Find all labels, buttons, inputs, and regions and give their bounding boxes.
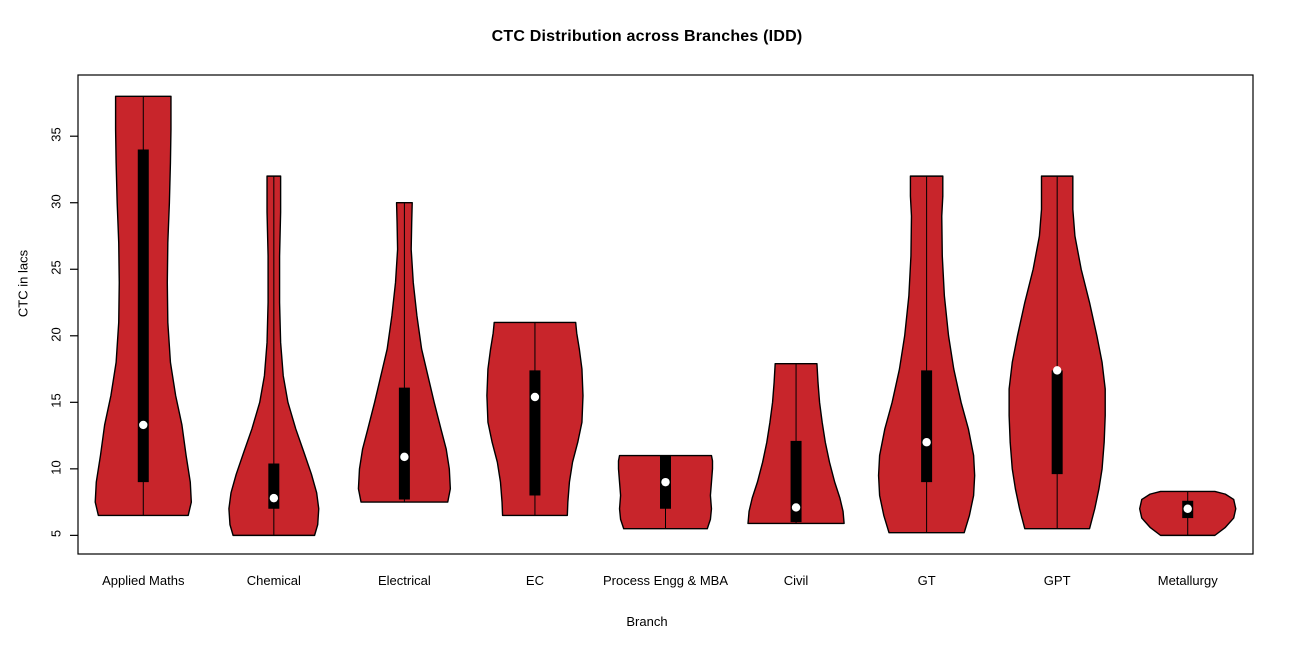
y-tick-label: 25 [49, 253, 64, 283]
y-tick-label: 15 [49, 386, 64, 416]
y-tick-label: 30 [49, 186, 64, 216]
x-tick-label: Process Engg & MBA [603, 573, 728, 588]
median-point [661, 478, 669, 486]
x-tick-label: GPT [1044, 573, 1071, 588]
violin-process-engg-mba [619, 456, 713, 529]
violin-plot-figure: CTC Distribution across Branches (IDD) C… [0, 0, 1294, 653]
x-tick-label: Electrical [378, 573, 431, 588]
x-tick-label: Applied Maths [102, 573, 184, 588]
plot-canvas [0, 0, 1294, 653]
x-tick-label: EC [526, 573, 544, 588]
violin-metallurgy [1140, 491, 1236, 535]
median-point [270, 494, 278, 502]
violin-ec [487, 322, 583, 515]
y-tick-label: 35 [49, 120, 64, 150]
median-point [400, 453, 408, 461]
x-tick-label: Metallurgy [1158, 573, 1218, 588]
x-tick-label: Civil [784, 573, 809, 588]
violin-gt [879, 176, 975, 533]
x-tick-label: Chemical [247, 573, 301, 588]
violin-gpt [1009, 176, 1105, 529]
median-point [792, 503, 800, 511]
median-point [1184, 505, 1192, 513]
x-tick-label: GT [918, 573, 936, 588]
y-tick-label: 20 [49, 319, 64, 349]
violin-civil [748, 364, 844, 524]
violin-chemical [229, 176, 319, 535]
median-point [531, 393, 539, 401]
median-point [922, 438, 930, 446]
violin-applied-maths [95, 96, 191, 515]
median-point [1053, 366, 1061, 374]
y-tick-label: 5 [49, 519, 64, 549]
y-tick-label: 10 [49, 452, 64, 482]
median-point [139, 421, 147, 429]
violin-electrical [358, 203, 450, 502]
